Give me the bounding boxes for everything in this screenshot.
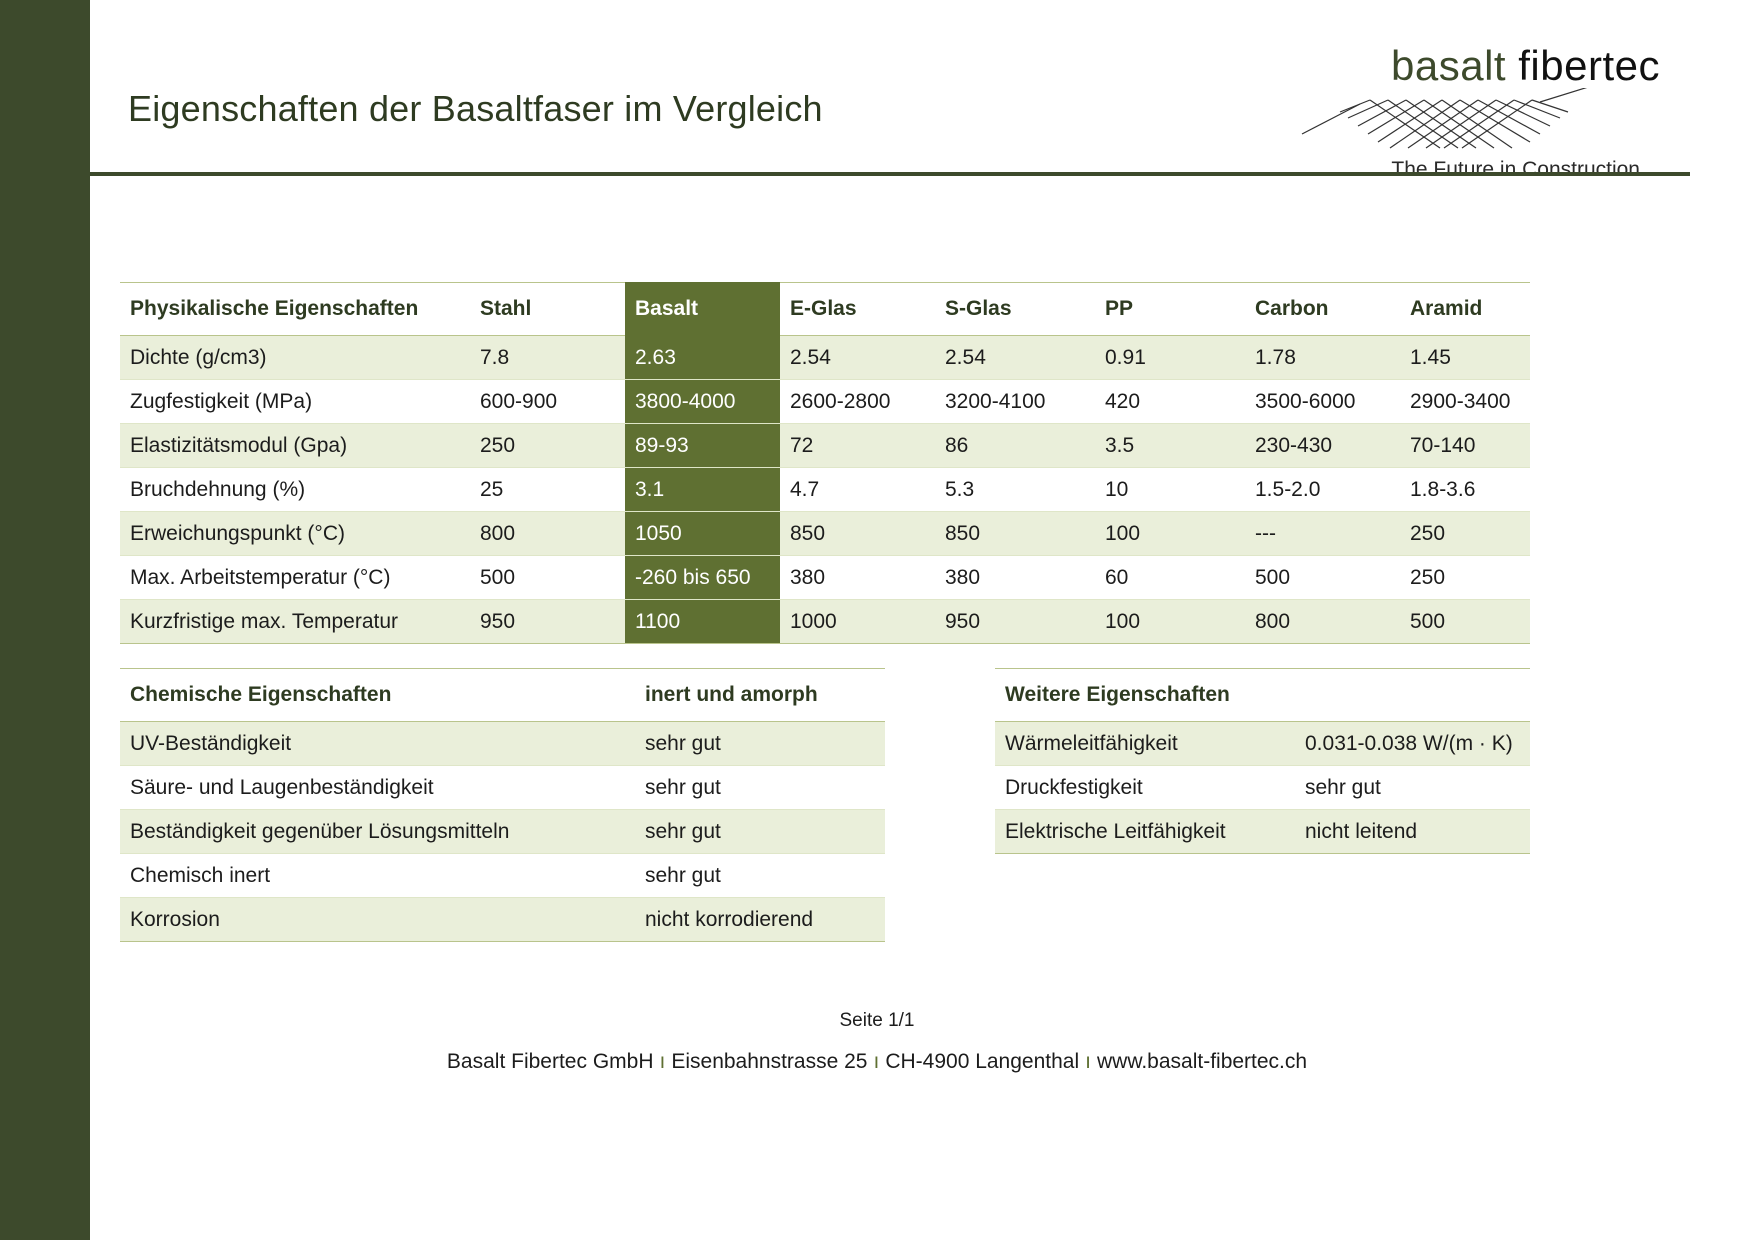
cell-e-glas: 380	[780, 556, 935, 600]
chemical-properties-table: Chemische Eigenschaften inert und amorph…	[120, 668, 885, 942]
table-row: Kurzfristige max. Temperatur 950 1100 10…	[120, 600, 1530, 644]
cell-pp: 100	[1095, 512, 1245, 556]
header-basalt: Basalt	[625, 283, 780, 336]
cell-aramid: 250	[1400, 512, 1530, 556]
cell-carbon: 3500-6000	[1245, 380, 1400, 424]
cell-e-glas: 4.7	[780, 468, 935, 512]
row-value: sehr gut	[635, 722, 885, 766]
cell-stahl: 800	[470, 512, 625, 556]
cell-s-glas: 380	[935, 556, 1095, 600]
row-label: UV-Beständigkeit	[120, 722, 635, 766]
physical-properties-table: Physikalische Eigenschaften Stahl Basalt…	[120, 282, 1530, 644]
table-header-row: Physikalische Eigenschaften Stahl Basalt…	[120, 283, 1530, 336]
row-value: nicht leitend	[1295, 810, 1530, 854]
footer-separator: ı	[1079, 1050, 1097, 1073]
cell-e-glas: 2600-2800	[780, 380, 935, 424]
cell-stahl: 600-900	[470, 380, 625, 424]
cell-basalt: 2.63	[625, 336, 780, 380]
row-label: Elastizitätsmodul (Gpa)	[120, 424, 470, 468]
cell-aramid: 2900-3400	[1400, 380, 1530, 424]
cell-aramid: 500	[1400, 600, 1530, 644]
row-label: Zugfestigkeit (MPa)	[120, 380, 470, 424]
cell-s-glas: 850	[935, 512, 1095, 556]
table-row: UV-Beständigkeit sehr gut	[120, 722, 885, 766]
row-value: nicht korrodierend	[635, 898, 885, 942]
footer-separator: ı	[654, 1050, 672, 1073]
mesh-grid-icon	[1300, 88, 1600, 158]
further-table-body: Wärmeleitfähigkeit 0.031-0.038 W/(m · K)…	[995, 722, 1530, 854]
cell-pp: 0.91	[1095, 336, 1245, 380]
cell-s-glas: 2.54	[935, 336, 1095, 380]
table-row: Druckfestigkeit sehr gut	[995, 766, 1530, 810]
cell-stahl: 250	[470, 424, 625, 468]
cell-carbon: ---	[1245, 512, 1400, 556]
table-row: Max. Arbeitstemperatur (°C) 500 -260 bis…	[120, 556, 1530, 600]
row-value: sehr gut	[635, 854, 885, 898]
physical-table-body: Dichte (g/cm3) 7.8 2.63 2.54 2.54 0.91 1…	[120, 336, 1530, 644]
header-weitere-blank	[1295, 669, 1530, 722]
cell-basalt: 3800-4000	[625, 380, 780, 424]
table-row: Beständigkeit gegenüber Lösungsmitteln s…	[120, 810, 885, 854]
table-row: Korrosion nicht korrodierend	[120, 898, 885, 942]
table-row: Chemisch inert sehr gut	[120, 854, 885, 898]
row-label: Säure- und Laugenbeständigkeit	[120, 766, 635, 810]
cell-carbon: 230-430	[1245, 424, 1400, 468]
header-stahl: Stahl	[470, 283, 625, 336]
table-row: Wärmeleitfähigkeit 0.031-0.038 W/(m · K)	[995, 722, 1530, 766]
header-carbon: Carbon	[1245, 283, 1400, 336]
cell-aramid: 250	[1400, 556, 1530, 600]
cell-aramid: 1.8-3.6	[1400, 468, 1530, 512]
table-row: Erweichungspunkt (°C) 800 1050 850 850 1…	[120, 512, 1530, 556]
table-row: Elastizitätsmodul (Gpa) 250 89-93 72 86 …	[120, 424, 1530, 468]
table-row: Dichte (g/cm3) 7.8 2.63 2.54 2.54 0.91 1…	[120, 336, 1530, 380]
row-label: Erweichungspunkt (°C)	[120, 512, 470, 556]
header-chemische-eigenschaften: Chemische Eigenschaften	[120, 669, 635, 722]
footer-website: www.basalt-fibertec.ch	[1097, 1050, 1307, 1073]
cell-basalt: 1050	[625, 512, 780, 556]
table-row: Bruchdehnung (%) 25 3.1 4.7 5.3 10 1.5-2…	[120, 468, 1530, 512]
cell-pp: 100	[1095, 600, 1245, 644]
row-label: Bruchdehnung (%)	[120, 468, 470, 512]
logo-word-fibertec: fibertec	[1518, 42, 1660, 89]
row-label: Dichte (g/cm3)	[120, 336, 470, 380]
footer-imprint: Basalt Fibertec GmbHıEisenbahnstrasse 25…	[0, 1050, 1754, 1074]
header-pp: PP	[1095, 283, 1245, 336]
cell-s-glas: 86	[935, 424, 1095, 468]
footer-city: CH-4900 Langenthal	[885, 1050, 1079, 1073]
page-header: Eigenschaften der Basaltfaser im Verglei…	[128, 40, 1688, 175]
cell-e-glas: 850	[780, 512, 935, 556]
footer-separator: ı	[867, 1050, 885, 1073]
cell-e-glas: 1000	[780, 600, 935, 644]
page-title: Eigenschaften der Basaltfaser im Verglei…	[128, 88, 823, 130]
cell-stahl: 25	[470, 468, 625, 512]
table-row: Säure- und Laugenbeständigkeit sehr gut	[120, 766, 885, 810]
cell-s-glas: 5.3	[935, 468, 1095, 512]
footer-company: Basalt Fibertec GmbH	[447, 1050, 654, 1073]
page-number: Seite 1/1	[0, 1010, 1754, 1032]
further-properties-table: Weitere Eigenschaften Wärmeleitfähigkeit…	[995, 668, 1530, 854]
row-value: 0.031-0.038 W/(m · K)	[1295, 722, 1530, 766]
cell-s-glas: 950	[935, 600, 1095, 644]
row-label: Beständigkeit gegenüber Lösungsmitteln	[120, 810, 635, 854]
header-divider	[90, 172, 1690, 176]
cell-stahl: 7.8	[470, 336, 625, 380]
company-logo: basalt fibertec	[1180, 40, 1660, 190]
row-label: Elektrische Leitfähigkeit	[995, 810, 1295, 854]
row-label: Druckfestigkeit	[995, 766, 1295, 810]
cell-basalt: 3.1	[625, 468, 780, 512]
row-label: Korrosion	[120, 898, 635, 942]
cell-carbon: 500	[1245, 556, 1400, 600]
cell-carbon: 800	[1245, 600, 1400, 644]
row-value: sehr gut	[635, 766, 885, 810]
cell-e-glas: 72	[780, 424, 935, 468]
cell-carbon: 1.5-2.0	[1245, 468, 1400, 512]
cell-carbon: 1.78	[1245, 336, 1400, 380]
row-value: sehr gut	[635, 810, 885, 854]
chemical-table-body: UV-Beständigkeit sehr gut Säure- und Lau…	[120, 722, 885, 942]
header-aramid: Aramid	[1400, 283, 1530, 336]
header-inert-und-amorph: inert und amorph	[635, 669, 885, 722]
logo-tagline: The Future in Construction	[1391, 158, 1640, 182]
cell-basalt: 1100	[625, 600, 780, 644]
cell-e-glas: 2.54	[780, 336, 935, 380]
table-header-row: Weitere Eigenschaften	[995, 669, 1530, 722]
chemical-properties-section: Chemische Eigenschaften inert und amorph…	[120, 668, 885, 942]
cell-pp: 420	[1095, 380, 1245, 424]
cell-stahl: 500	[470, 556, 625, 600]
cell-pp: 10	[1095, 468, 1245, 512]
row-value: sehr gut	[1295, 766, 1530, 810]
cell-s-glas: 3200-4100	[935, 380, 1095, 424]
table-row: Elektrische Leitfähigkeit nicht leitend	[995, 810, 1530, 854]
cell-pp: 3.5	[1095, 424, 1245, 468]
logo-wordmark: basalt fibertec	[1180, 40, 1660, 92]
header-e-glas: E-Glas	[780, 283, 935, 336]
cell-aramid: 70-140	[1400, 424, 1530, 468]
further-properties-section: Weitere Eigenschaften Wärmeleitfähigkeit…	[995, 668, 1530, 854]
logo-word-basalt: basalt	[1391, 42, 1506, 89]
cell-basalt: 89-93	[625, 424, 780, 468]
header-weitere-eigenschaften: Weitere Eigenschaften	[995, 669, 1295, 722]
row-label: Wärmeleitfähigkeit	[995, 722, 1295, 766]
cell-aramid: 1.45	[1400, 336, 1530, 380]
row-label: Chemisch inert	[120, 854, 635, 898]
table-header-row: Chemische Eigenschaften inert und amorph	[120, 669, 885, 722]
cell-stahl: 950	[470, 600, 625, 644]
header-s-glas: S-Glas	[935, 283, 1095, 336]
cell-pp: 60	[1095, 556, 1245, 600]
cell-basalt: -260 bis 650	[625, 556, 780, 600]
row-label: Max. Arbeitstemperatur (°C)	[120, 556, 470, 600]
row-label: Kurzfristige max. Temperatur	[120, 600, 470, 644]
table-row: Zugfestigkeit (MPa) 600-900 3800-4000 26…	[120, 380, 1530, 424]
header-physikalische-eigenschaften: Physikalische Eigenschaften	[120, 283, 470, 336]
footer-address: Eisenbahnstrasse 25	[671, 1050, 867, 1073]
